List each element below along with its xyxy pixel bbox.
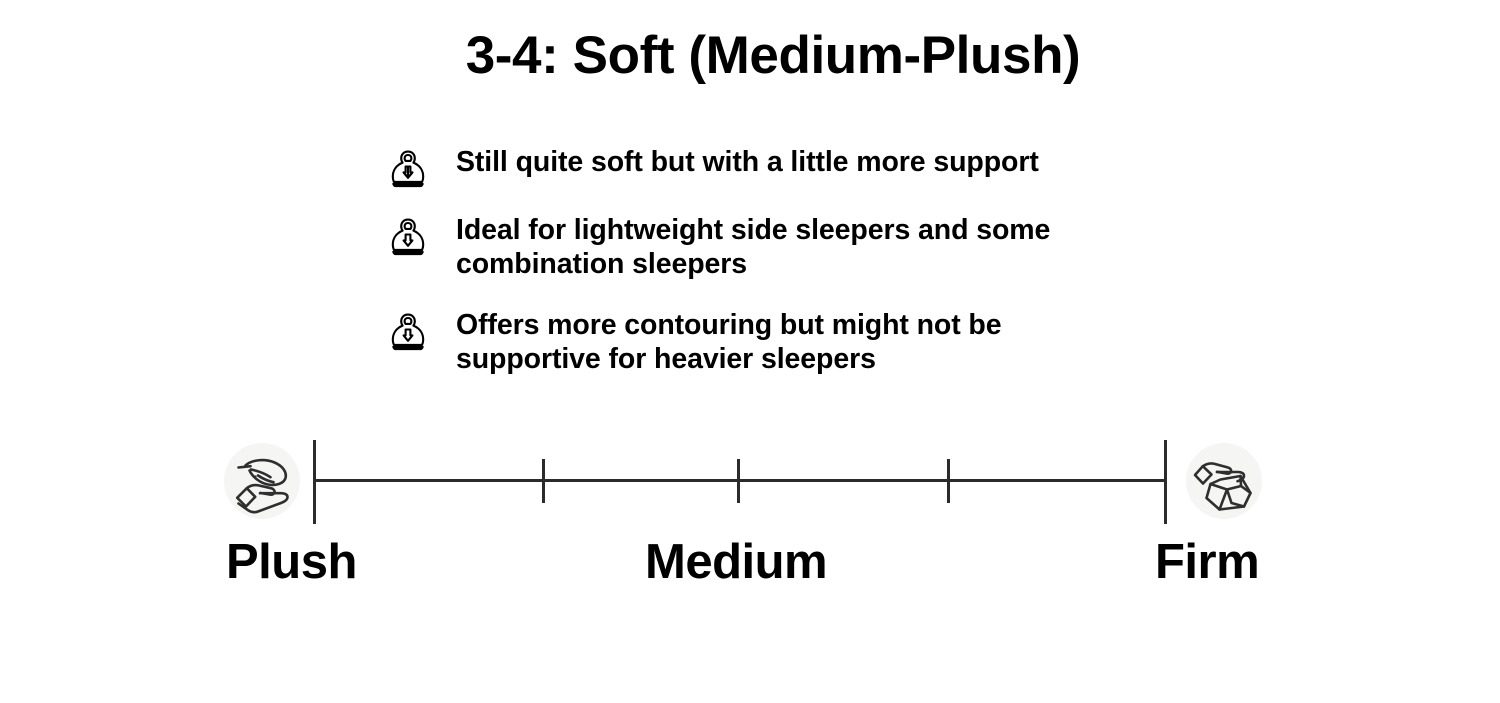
hand-on-rock-icon xyxy=(1186,443,1262,519)
scale-axis-line xyxy=(313,479,1167,482)
kettlebell-down-arrow-icon xyxy=(388,148,428,190)
scale-label-row: Plush Medium Firm xyxy=(0,538,1500,602)
scale-tick-minor-3 xyxy=(947,459,950,503)
scale-tick-minor-2 xyxy=(737,459,740,503)
kettlebell-down-arrow-icon xyxy=(388,216,428,258)
scale-tick-minor-1 xyxy=(542,459,545,503)
list-item-label: Ideal for lightweight side sleepers and … xyxy=(456,214,1096,282)
scale-label-firm: Firm xyxy=(1155,538,1259,587)
scale-tick-firm-end xyxy=(1164,440,1167,524)
kettlebell-down-arrow-icon xyxy=(388,311,428,353)
list-item: Still quite soft but with a little more … xyxy=(388,146,1108,190)
scale-tick-plush-end xyxy=(313,440,316,524)
scale-label-plush: Plush xyxy=(226,538,357,587)
hand-holding-feather-icon xyxy=(224,443,300,519)
page-title: 3-4: Soft (Medium-Plush) xyxy=(0,26,1500,87)
scale-label-medium: Medium xyxy=(645,538,827,587)
list-item-label: Still quite soft but with a little more … xyxy=(456,146,1039,180)
list-item-label: Offers more contouring but might not be … xyxy=(456,309,1096,377)
feature-bullet-list: Still quite soft but with a little more … xyxy=(388,146,1108,377)
list-item: Offers more contouring but might not be … xyxy=(388,309,1108,377)
list-item: Ideal for lightweight side sleepers and … xyxy=(388,214,1108,282)
